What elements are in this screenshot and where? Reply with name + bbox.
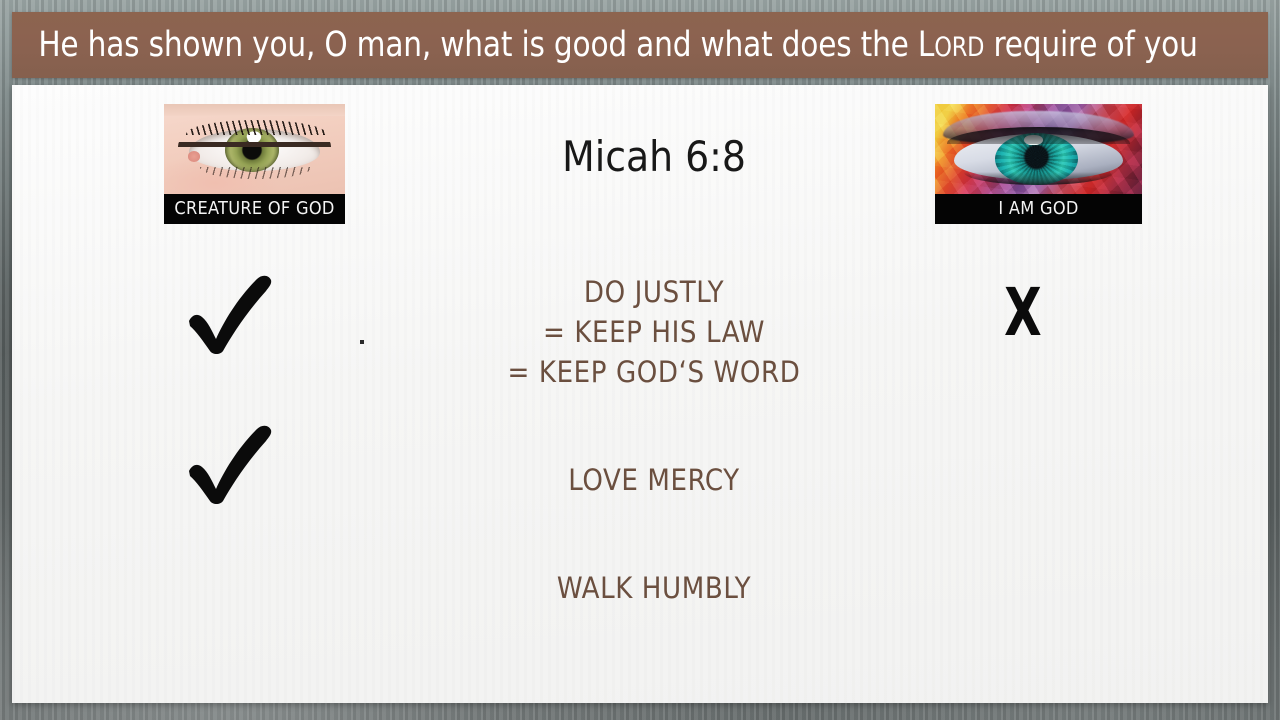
x-mark-icon: X (1004, 280, 1042, 346)
slide-stage: He has shown you, O man, what is good an… (0, 0, 1280, 720)
brow-shape (164, 104, 345, 116)
walk-humbly-block: WALK HUMBLY (0, 568, 1280, 608)
walk-humbly-line: WALK HUMBLY (14, 568, 1280, 608)
do-justly-line-3: = KEEP GOD‘S WORD (14, 352, 1280, 392)
left-card-caption: CREATURE OF GOD (164, 194, 345, 224)
title-lord-initial: L (918, 25, 934, 65)
right-card-caption: I AM GOD (935, 194, 1142, 224)
title-suffix: require of you (984, 25, 1197, 65)
title-lord-smallcaps: ORD (934, 32, 984, 63)
check-mark-icon-1 (183, 271, 275, 355)
scripture-reference-text: Micah 6:8 (14, 132, 1280, 181)
stray-period-dot (360, 340, 364, 344)
check-mark-icon-2 (183, 421, 275, 505)
check-mark-path (189, 276, 271, 354)
title-prefix: He has shown you, O man, what is good an… (38, 25, 918, 65)
page-title: He has shown you, O man, what is good an… (12, 25, 1198, 65)
scripture-reference: Micah 6:8 (0, 132, 1280, 181)
slide-title-bar: He has shown you, O man, what is good an… (12, 12, 1268, 78)
check-mark-path (189, 426, 271, 504)
